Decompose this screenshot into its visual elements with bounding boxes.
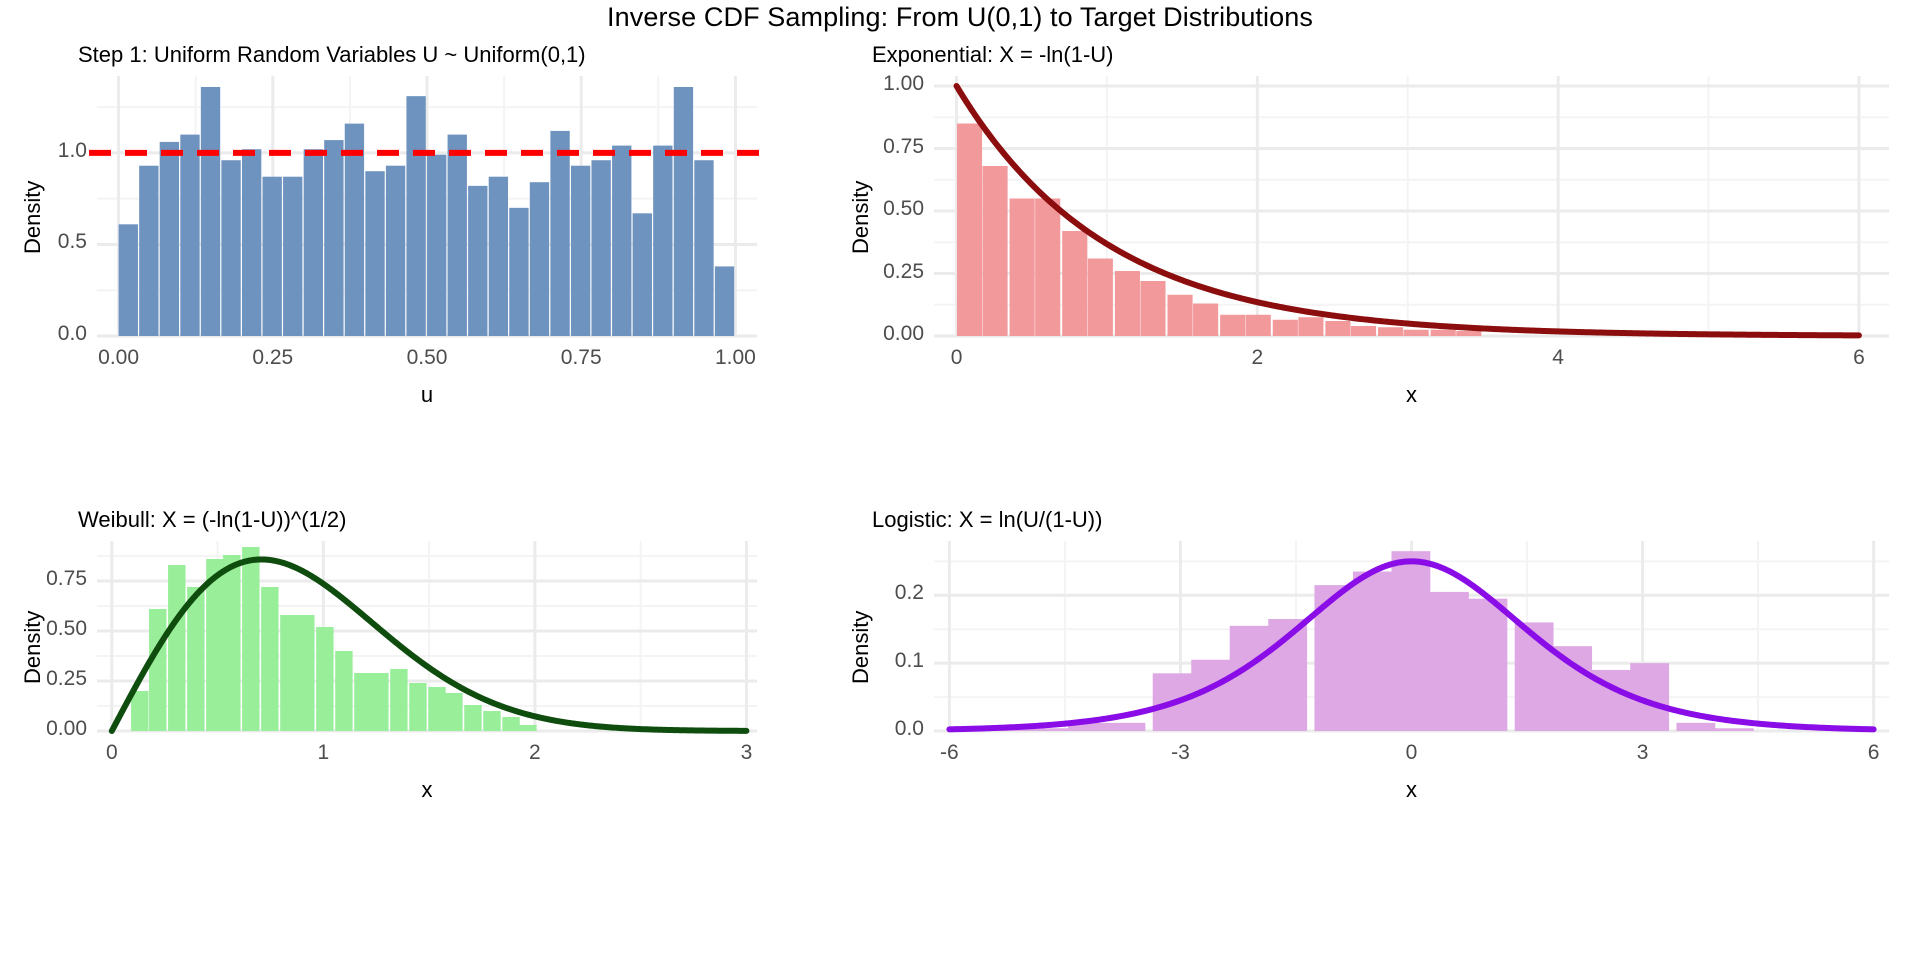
x-tick-label: 0.75	[521, 346, 641, 370]
x-tick-label: 0.00	[59, 346, 179, 370]
x-tick-label: 4	[1498, 346, 1618, 370]
histogram-bar	[983, 166, 1008, 336]
y-tick-label: 0.00	[0, 717, 87, 741]
page-title: Inverse CDF Sampling: From U(0,1) to Tar…	[0, 2, 1920, 33]
histogram-bar	[445, 693, 462, 731]
histogram-bar	[1062, 231, 1087, 336]
y-tick-label: 1.00	[834, 72, 924, 96]
histogram-bar	[409, 683, 426, 731]
histogram-bar	[1430, 592, 1469, 731]
y-tick-label: 0.00	[834, 322, 924, 346]
bar-series	[991, 551, 1754, 731]
x-tick-label: 1.00	[675, 346, 795, 370]
histogram-bar	[571, 166, 590, 336]
histogram-bar	[633, 213, 652, 336]
y-tick-label: 0.25	[0, 667, 87, 691]
histogram-bar	[223, 555, 240, 731]
histogram-bar	[149, 609, 166, 731]
x-tick-label: 1	[263, 741, 383, 765]
histogram-bar	[550, 131, 569, 336]
histogram-bar	[283, 177, 302, 336]
histogram-bar	[354, 673, 371, 731]
histogram-bar	[263, 177, 282, 336]
y-tick-label: 0.50	[834, 197, 924, 221]
histogram-bar	[428, 687, 445, 731]
histogram-bar	[1140, 281, 1165, 336]
histogram-bar	[139, 166, 158, 336]
y-tick-label: 0.2	[834, 581, 924, 605]
histogram-bar	[304, 149, 323, 336]
histogram-bar	[957, 124, 982, 337]
histogram-bar	[1088, 259, 1113, 337]
y-tick-label: 0.75	[0, 567, 87, 591]
histogram-bar	[365, 171, 384, 336]
histogram-bar	[160, 142, 179, 336]
histogram-bar	[1431, 330, 1456, 336]
histogram-bar	[386, 166, 405, 336]
histogram-bar	[1010, 199, 1035, 337]
y-tick-label: 0.50	[0, 617, 87, 641]
histogram-bar	[280, 615, 297, 731]
x-tick-label: 3	[1583, 741, 1703, 765]
histogram-bar	[1404, 330, 1429, 336]
histogram-bar	[427, 155, 446, 336]
histogram-bar	[489, 177, 508, 336]
histogram-bar	[371, 673, 388, 731]
histogram-bar	[1230, 626, 1269, 731]
x-tick-label: 6	[1799, 346, 1919, 370]
histogram-bar	[1107, 723, 1146, 731]
histogram-bar	[1715, 728, 1754, 731]
histogram-bar	[1193, 304, 1218, 337]
x-tick-label: -3	[1120, 741, 1240, 765]
x-tick-label: 3	[686, 741, 806, 765]
histogram-bar	[406, 96, 425, 336]
y-tick-label: 0.5	[0, 230, 87, 254]
x-tick-label: 0	[52, 741, 172, 765]
x-tick-label: 0	[897, 346, 1017, 370]
panel-exponential: Exponential: X = -ln(1-U) Density x 0.00…	[830, 40, 1920, 440]
y-tick-label: 0.0	[0, 322, 87, 346]
histogram-bar	[519, 725, 536, 731]
histogram-bar	[509, 208, 528, 336]
histogram-bar	[242, 149, 261, 336]
histogram-bar	[530, 182, 549, 336]
histogram-bar	[242, 547, 259, 731]
y-tick-label: 0.0	[834, 717, 924, 741]
histogram-bar	[1456, 331, 1481, 336]
histogram-bar	[1325, 321, 1350, 336]
histogram-bar	[119, 224, 138, 336]
y-tick-label: 0.25	[834, 260, 924, 284]
x-tick-label: -6	[889, 741, 1009, 765]
histogram-bar	[390, 669, 407, 731]
histogram-bar	[1298, 317, 1323, 336]
histogram-bar	[1468, 599, 1507, 731]
x-tick-label: 0	[1352, 741, 1472, 765]
histogram-bar	[1391, 551, 1430, 731]
panel-uniform-overlay	[0, 40, 830, 440]
histogram-bar	[715, 266, 734, 336]
histogram-bar	[1553, 646, 1592, 731]
histogram-bar	[1378, 327, 1403, 336]
histogram-bar	[448, 135, 467, 336]
histogram-bar	[168, 565, 185, 731]
histogram-bar	[1115, 271, 1140, 336]
histogram-bar	[261, 587, 278, 731]
histogram-bar	[1676, 723, 1715, 731]
histogram-bar	[483, 711, 500, 731]
panel-uniform: Step 1: Uniform Random Variables U ~ Uni…	[0, 40, 830, 440]
x-tick-label: 0.50	[367, 346, 487, 370]
panel-logistic: Logistic: X = ln(U/(1-U)) Density x 0.00…	[830, 505, 1920, 960]
y-tick-label: 1.0	[0, 139, 87, 163]
histogram-bar	[131, 691, 148, 731]
x-tick-label: 6	[1814, 741, 1920, 765]
panel-logistic-overlay	[830, 505, 1920, 960]
histogram-bar	[201, 87, 220, 336]
histogram-bar	[180, 135, 199, 336]
histogram-bar	[297, 615, 314, 731]
histogram-bar	[187, 587, 204, 731]
histogram-bar	[1351, 326, 1376, 336]
histogram-bar	[464, 705, 481, 731]
histogram-bar	[612, 146, 631, 336]
panel-weibull: Weibull: X = (-ln(1-U))^(1/2) Density x …	[0, 505, 830, 960]
histogram-bar	[324, 140, 343, 336]
histogram-bar	[653, 146, 672, 336]
histogram-bar	[1167, 295, 1192, 336]
panel-weibull-overlay	[0, 505, 830, 960]
histogram-bar	[221, 160, 240, 336]
x-tick-label: 2	[1197, 346, 1317, 370]
histogram-bar	[502, 717, 519, 731]
panel-exponential-overlay	[830, 40, 1920, 440]
histogram-bar	[674, 87, 693, 336]
histogram-bar	[1246, 315, 1271, 336]
histogram-bar	[1035, 199, 1060, 337]
histogram-bar	[1273, 320, 1298, 336]
y-tick-label: 0.75	[834, 135, 924, 159]
histogram-bar	[1220, 315, 1245, 336]
histogram-bar	[1353, 572, 1392, 731]
histogram-bar	[591, 160, 610, 336]
histogram-bar	[335, 651, 352, 731]
histogram-bar	[468, 186, 487, 336]
bar-series	[131, 547, 537, 731]
histogram-bar	[316, 627, 333, 731]
y-tick-label: 0.1	[834, 649, 924, 673]
x-tick-label: 2	[475, 741, 595, 765]
x-tick-label: 0.25	[213, 346, 333, 370]
histogram-bar	[694, 160, 713, 336]
